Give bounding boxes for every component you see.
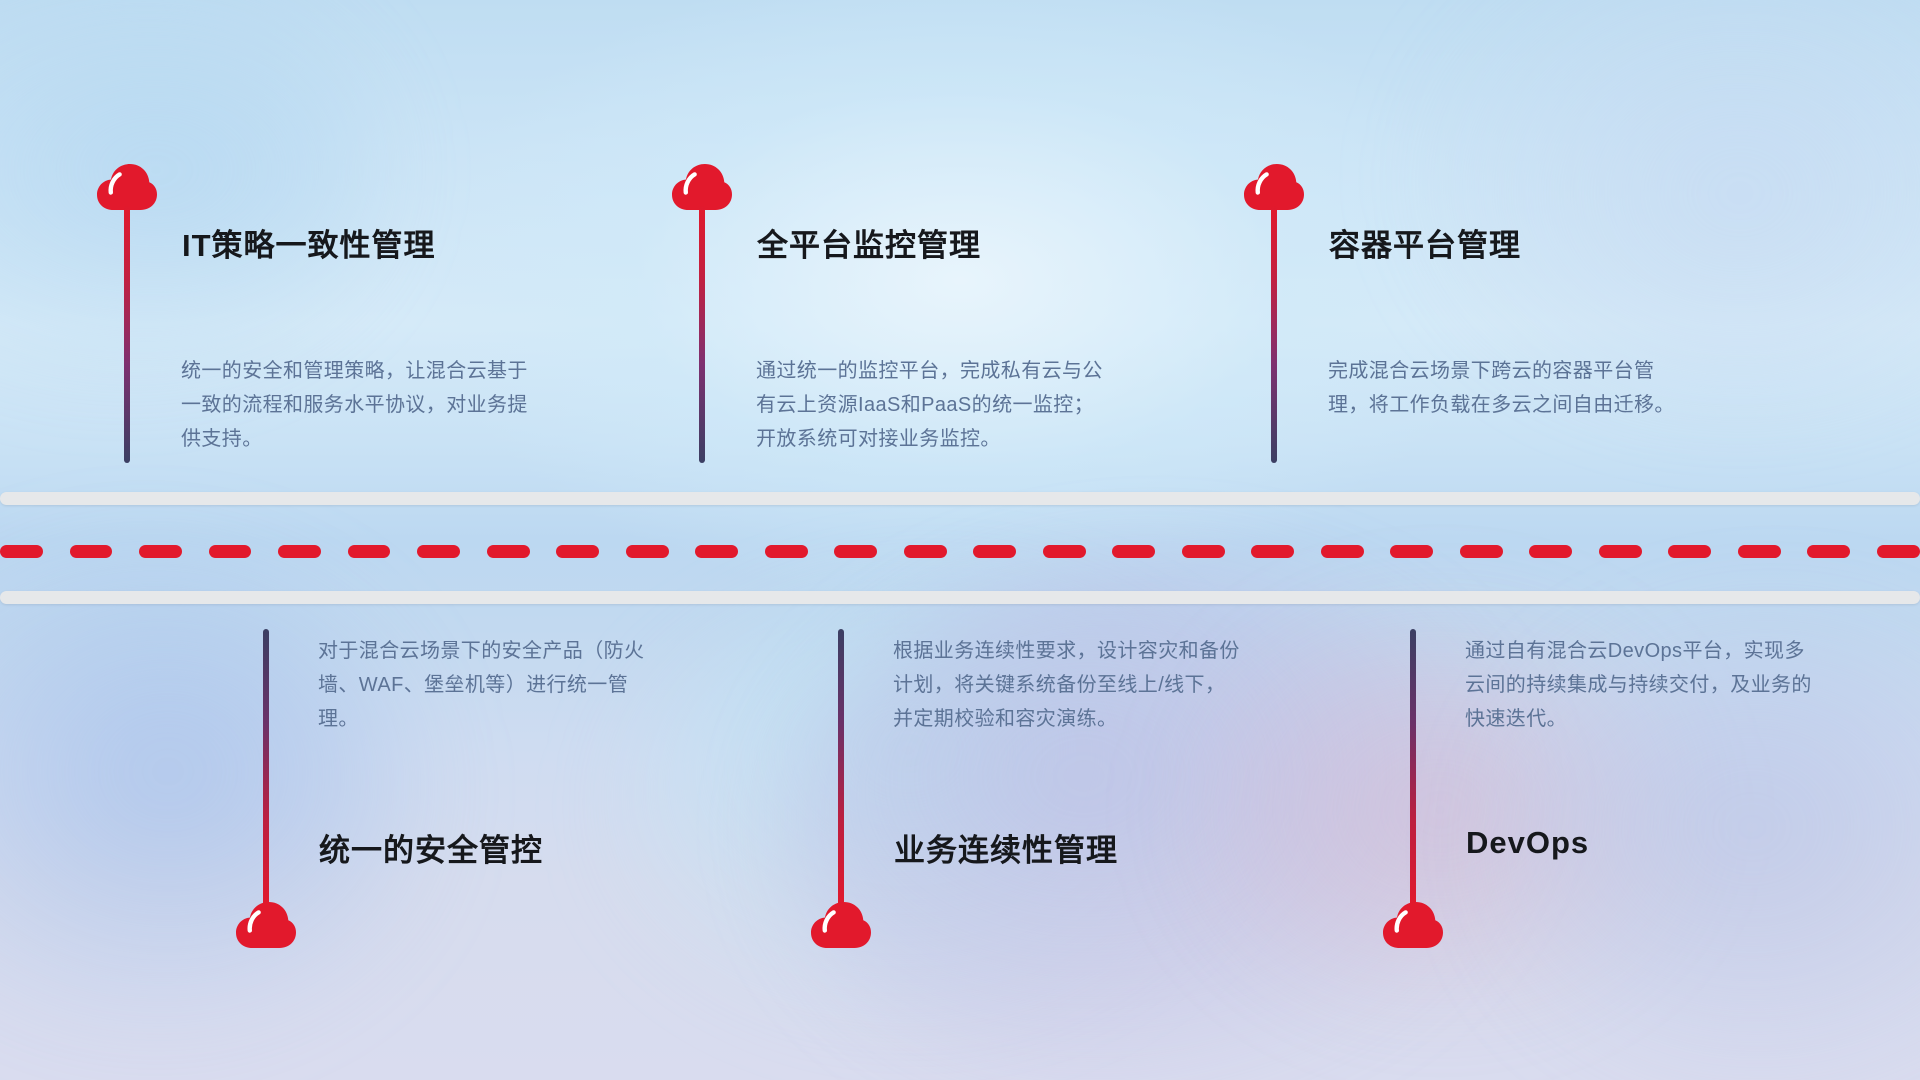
road-dash [1599, 545, 1642, 558]
infographic-canvas: IT策略一致性管理 统一的安全和管理策略，让混合云基于一致的流程和服务水平协议，… [0, 0, 1920, 1080]
cloud-icon [1382, 901, 1444, 949]
background-blob-left [0, 560, 420, 1030]
connector-stem [1271, 205, 1277, 463]
road-edge-top-line [0, 492, 1920, 505]
road-dash [417, 545, 460, 558]
road-dash [973, 545, 1016, 558]
bottom-column-1-title: 统一的安全管控 [319, 825, 543, 870]
road-dash [904, 545, 947, 558]
road-dash [1529, 545, 1572, 558]
connector-stem [699, 205, 705, 463]
road-dash [1668, 545, 1711, 558]
road-dash [626, 545, 669, 558]
connector-stem [838, 629, 844, 907]
road-dash [1112, 545, 1155, 558]
road-dash [1182, 545, 1225, 558]
road-dash [139, 545, 182, 558]
road-dash [1321, 545, 1364, 558]
road-dash [70, 545, 113, 558]
road-dash [0, 545, 43, 558]
background-blob-top-left [0, 0, 380, 380]
cloud-icon [235, 901, 297, 949]
road-dash [487, 545, 530, 558]
road-dash [1460, 545, 1503, 558]
top-column-1-body: 统一的安全和管理策略，让混合云基于一致的流程和服务水平协议，对业务提供支持。 [181, 354, 531, 456]
road-dash [1738, 545, 1781, 558]
bottom-column-2-body: 根据业务连续性要求，设计容灾和备份计划，将关键系统备份至线上/线下，并定期校验和… [893, 634, 1243, 736]
bottom-column-2-title: 业务连续性管理 [894, 825, 1118, 870]
connector-stem [1410, 629, 1416, 907]
road-dash [1877, 545, 1920, 558]
cloud-icon [671, 163, 733, 211]
cloud-icon [810, 901, 872, 949]
road-edge-bottom-line [0, 591, 1920, 604]
top-column-1-title: IT策略一致性管理 [182, 220, 436, 265]
road-divider [0, 486, 1920, 610]
road-dash [1390, 545, 1433, 558]
road-dash [834, 545, 877, 558]
road-dashed-center-line [0, 545, 1920, 558]
road-dash [1251, 545, 1294, 558]
top-column-3-title: 容器平台管理 [1329, 220, 1521, 265]
road-dash [695, 545, 738, 558]
top-column-2-body: 通过统一的监控平台，完成私有云与公有云上资源IaaS和PaaS的统一监控；开放系… [756, 354, 1106, 456]
road-dash [1043, 545, 1086, 558]
top-column-3-body: 完成混合云场景下跨云的容器平台管理，将工作负载在多云之间自由迁移。 [1328, 354, 1678, 422]
top-column-2-title: 全平台监控管理 [757, 220, 981, 265]
cloud-icon [96, 163, 158, 211]
bottom-column-1-body: 对于混合云场景下的安全产品（防火墙、WAF、堡垒机等）进行统一管理。 [318, 634, 668, 736]
road-dash [765, 545, 808, 558]
connector-stem [124, 205, 130, 463]
road-dash [1807, 545, 1850, 558]
connector-stem [263, 629, 269, 907]
road-dash [278, 545, 321, 558]
road-dash [209, 545, 252, 558]
bottom-column-3-body: 通过自有混合云DevOps平台，实现多云间的持续集成与持续交付，及业务的快速迭代… [1465, 634, 1815, 736]
bottom-column-3-title: DevOps [1466, 825, 1589, 861]
cloud-icon [1243, 163, 1305, 211]
road-dash [556, 545, 599, 558]
road-dash [348, 545, 391, 558]
background-blob-top-right [1420, 0, 1920, 400]
